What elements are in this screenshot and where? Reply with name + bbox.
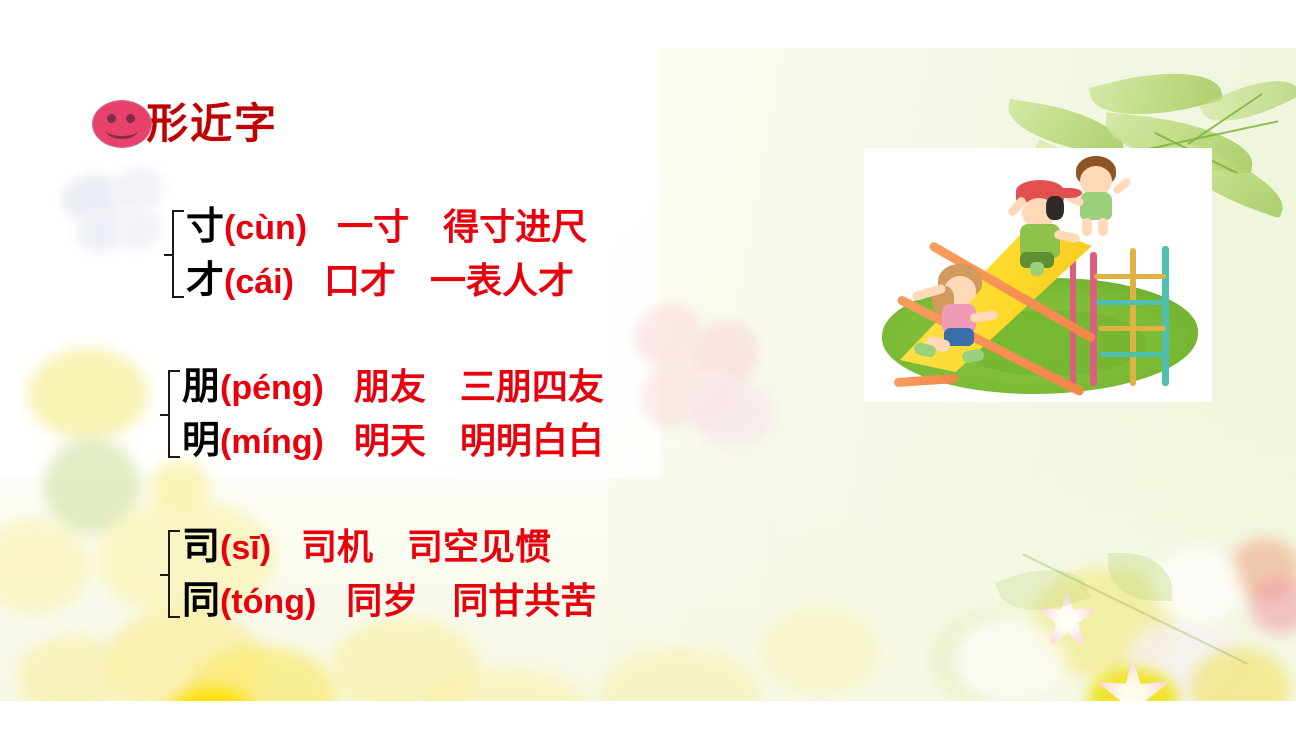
slide-canvas: 形近字 寸 (cùn) 一寸 得寸进尺 才 (cái) 口才 一表人才 — [0, 48, 1296, 701]
character-glyph: 才 — [186, 254, 224, 308]
character-word: 一寸 — [337, 200, 409, 254]
character-group: 寸 (cùn) 一寸 得寸进尺 才 (cái) 口才 一表人才 — [170, 200, 587, 308]
character-row: 司 (sī) 司机 司空见惯 — [182, 520, 596, 574]
smiley-mouth — [106, 121, 138, 139]
character-idiom: 得寸进尺 — [443, 200, 587, 254]
children-on-slide-illustration — [864, 148, 1212, 402]
character-group: 朋 (péng) 朋友 三朋四友 明 (míng) 明天 明明白白 — [166, 360, 604, 468]
character-pinyin: (sī) — [220, 521, 271, 575]
character-pinyin: (cùn) — [224, 201, 307, 255]
character-pinyin: (cái) — [224, 255, 294, 309]
slide-rail-foot — [894, 374, 958, 387]
ladder-leg-right — [1162, 246, 1169, 386]
character-idiom: 同甘共苦 — [452, 574, 596, 628]
character-row: 明 (míng) 明天 明明白白 — [182, 414, 604, 468]
group-bracket — [166, 520, 180, 628]
character-row: 朋 (péng) 朋友 三朋四友 — [182, 360, 604, 414]
character-idiom: 明明白白 — [460, 414, 604, 468]
smiley-face-icon — [92, 100, 152, 148]
character-glyph: 明 — [182, 414, 220, 468]
character-glyph: 同 — [182, 574, 220, 628]
group-bracket — [170, 200, 184, 308]
character-word: 司机 — [301, 520, 373, 574]
playground-scene — [864, 148, 1212, 402]
child-sliding — [908, 264, 1028, 368]
ladder-leg-left — [1090, 252, 1097, 386]
page-title: 形近字 — [92, 100, 278, 148]
character-group: 司 (sī) 司机 司空见惯 同 (tóng) 同岁 同甘共苦 — [166, 520, 596, 628]
character-word: 朋友 — [354, 360, 426, 414]
character-idiom: 一表人才 — [430, 254, 574, 308]
ladder-leg-mid — [1130, 248, 1136, 386]
character-pinyin: (míng) — [220, 415, 324, 469]
character-glyph: 司 — [182, 520, 220, 574]
ladder-rung — [1096, 300, 1166, 305]
character-glyph: 寸 — [186, 200, 224, 254]
character-row: 才 (cái) 口才 一表人才 — [186, 254, 587, 308]
character-idiom: 司空见惯 — [407, 520, 551, 574]
faint-butterfly-decoration — [62, 168, 172, 258]
ladder-rung — [1098, 326, 1166, 331]
character-word: 同岁 — [346, 574, 418, 628]
character-word: 明天 — [354, 414, 426, 468]
group-bracket — [166, 360, 180, 468]
pink-butterfly-decoration — [634, 304, 764, 454]
character-pinyin: (péng) — [220, 361, 324, 415]
ladder-rung — [1094, 274, 1166, 279]
character-row: 同 (tóng) 同岁 同甘共苦 — [182, 574, 596, 628]
title-text: 形近字 — [146, 103, 278, 145]
character-word: 口才 — [324, 254, 396, 308]
character-pinyin: (tóng) — [220, 575, 316, 629]
character-idiom: 三朋四友 — [460, 360, 604, 414]
child-with-cap — [1006, 180, 1092, 272]
ladder-rung — [1100, 352, 1166, 357]
character-row: 寸 (cùn) 一寸 得寸进尺 — [186, 200, 587, 254]
character-glyph: 朋 — [182, 360, 220, 414]
